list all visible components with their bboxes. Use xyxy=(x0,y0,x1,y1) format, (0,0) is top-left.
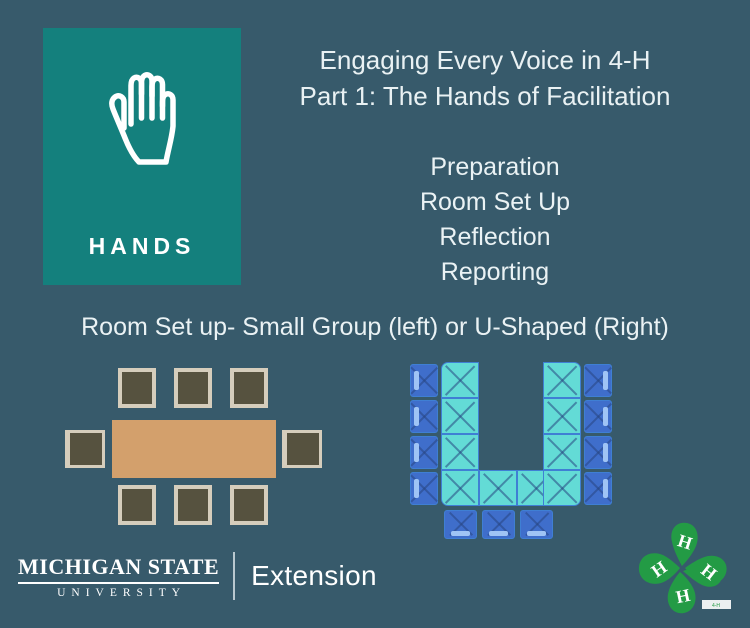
u-table-left-1 xyxy=(441,362,479,398)
chair-seat xyxy=(178,372,208,404)
chair-back xyxy=(414,371,419,390)
clover-icon: H H H H 4-H xyxy=(630,520,735,620)
slide-title: Engaging Every Voice in 4-H Part 1: The … xyxy=(250,42,720,114)
u-chair-bottom-1 xyxy=(444,510,477,539)
chair-back xyxy=(414,407,419,426)
logo-divider xyxy=(233,552,235,600)
agenda-list: Preparation Room Set Up Reflection Repor… xyxy=(330,150,660,290)
clover-trademark-text: 4-H xyxy=(712,603,720,609)
msu-wordmark: MICHIGAN STATE UNIVERSITY xyxy=(18,554,219,599)
u-chair-left-3 xyxy=(410,436,438,469)
chair-seat xyxy=(178,489,208,521)
chair-bottom-3 xyxy=(230,485,268,525)
u-chair-left-4 xyxy=(410,472,438,505)
chair-back xyxy=(414,479,419,498)
chair-back xyxy=(603,443,608,462)
chair-back xyxy=(603,479,608,498)
chair-back xyxy=(451,531,470,536)
u-table-right-2 xyxy=(543,398,581,434)
u-chair-bottom-3 xyxy=(520,510,553,539)
agenda-item-room-set-up: Room Set Up xyxy=(330,185,660,220)
chair-back xyxy=(489,531,508,536)
chair-top-3 xyxy=(230,368,268,408)
chair-seat xyxy=(234,372,264,404)
chair-back xyxy=(603,407,608,426)
u-chair-right-1 xyxy=(584,364,612,397)
agenda-item-reflection: Reflection xyxy=(330,220,660,255)
chair-seat xyxy=(122,372,152,404)
chair-right-1 xyxy=(282,430,322,468)
u-table-right-3 xyxy=(543,434,581,470)
u-chair-left-2 xyxy=(410,400,438,433)
chair-left-1 xyxy=(65,430,105,468)
chair-seat xyxy=(122,489,152,521)
four-h-clover-logo: H H H H 4-H xyxy=(630,520,735,620)
u-table-bottom-1 xyxy=(479,470,517,506)
u-table-right-1 xyxy=(543,362,581,398)
chair-seat xyxy=(70,433,102,465)
slide-canvas: HANDS Engaging Every Voice in 4-H Part 1… xyxy=(0,0,750,628)
chair-seat xyxy=(287,433,319,465)
title-line-1: Engaging Every Voice in 4-H xyxy=(250,42,720,78)
u-table-left-2 xyxy=(441,398,479,434)
agenda-item-reporting: Reporting xyxy=(330,255,660,290)
u-chair-bottom-2 xyxy=(482,510,515,539)
hands-card-label: HANDS xyxy=(43,233,241,260)
chair-seat xyxy=(234,489,264,521)
chair-top-2 xyxy=(174,368,212,408)
chair-back xyxy=(603,371,608,390)
open-hand-icon xyxy=(43,58,241,178)
u-chair-right-2 xyxy=(584,400,612,433)
chair-back xyxy=(414,443,419,462)
agenda-item-preparation: Preparation xyxy=(330,150,660,185)
msu-extension-logo: MICHIGAN STATE UNIVERSITY Extension xyxy=(18,552,377,600)
msu-top-line: MICHIGAN STATE xyxy=(18,554,219,584)
chair-top-1 xyxy=(118,368,156,408)
u-shaped-diagram xyxy=(410,362,620,522)
chair-bottom-1 xyxy=(118,485,156,525)
u-table-left-3 xyxy=(441,434,479,470)
u-chair-right-4 xyxy=(584,472,612,505)
chair-back xyxy=(527,531,546,536)
hands-card: HANDS xyxy=(43,28,241,285)
title-line-2: Part 1: The Hands of Facilitation xyxy=(250,78,720,114)
u-chair-left-1 xyxy=(410,364,438,397)
extension-wordmark: Extension xyxy=(251,560,377,592)
u-table-left-4 xyxy=(441,470,479,506)
u-chair-right-3 xyxy=(584,436,612,469)
small-group-diagram xyxy=(60,363,330,518)
conference-table xyxy=(112,420,276,478)
u-table-right-4 xyxy=(543,470,581,506)
chair-bottom-2 xyxy=(174,485,212,525)
room-setup-heading: Room Set up- Small Group (left) or U-Sha… xyxy=(20,313,730,342)
msu-bottom-line: UNIVERSITY xyxy=(18,584,219,599)
